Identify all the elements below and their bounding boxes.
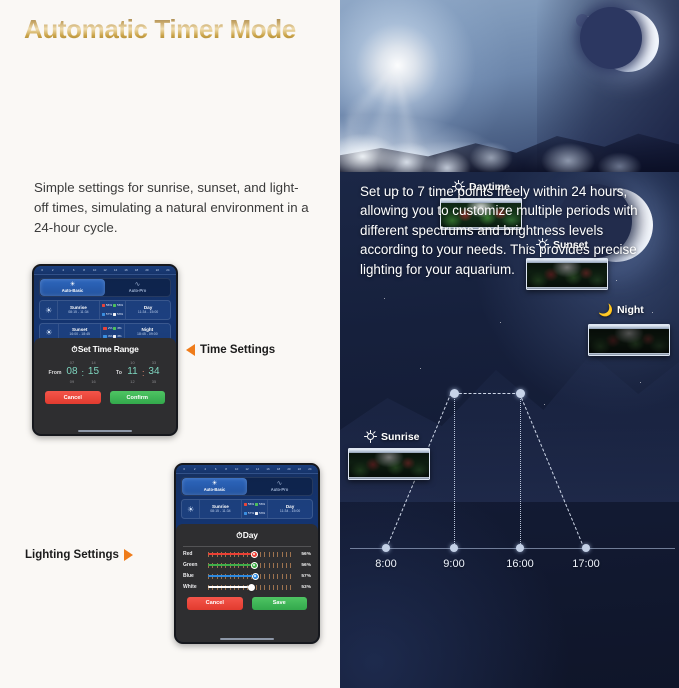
- chip-value: 56%: [117, 304, 123, 307]
- tab-auto-basic[interactable]: ☀ Auto-Basic: [182, 478, 247, 495]
- hour-tick: 24: [305, 468, 315, 471]
- wheel-selected: 34: [148, 366, 159, 379]
- chip-red: 56%: [102, 302, 113, 310]
- wheel-next: 12: [130, 379, 134, 385]
- to-hour-wheel[interactable]: 10 11 12: [125, 360, 140, 385]
- hour-tick: 12: [242, 468, 252, 471]
- page-root: Automatic Timer Mode Simple settings for…: [0, 0, 679, 688]
- home-indicator: [220, 638, 274, 640]
- crescent-moon-icon: [597, 10, 659, 72]
- hour-ruler-2[interactable]: 0 2 4 6 8 10 12 14 16 18 20 22 24: [176, 465, 318, 474]
- axis-label: 9:00: [443, 558, 464, 570]
- chip-white: 53%: [113, 310, 124, 318]
- clock-icon: ⏱: [71, 345, 77, 354]
- hour-ruler-1[interactable]: 0 2 4 6 8 10 12 14 16 18 20 22 24: [34, 266, 176, 275]
- hour-tick: 22: [294, 468, 304, 471]
- tab-auto-pro[interactable]: ∿ Auto-Pro: [247, 478, 312, 495]
- hour-tick: 20: [142, 269, 152, 272]
- dialog-title-text: Day: [243, 530, 258, 540]
- dialog-title-text: Set Time Range: [78, 344, 139, 354]
- hour-tick: 18: [131, 269, 141, 272]
- chip-value: 57%: [248, 512, 254, 515]
- chip-green: 56%: [113, 302, 124, 310]
- slider-knob[interactable]: [251, 562, 258, 569]
- aquarium-thumbnail-sunrise[interactable]: [348, 448, 430, 480]
- hour-tick: 2: [189, 468, 199, 471]
- chip-value: 53%: [117, 313, 123, 316]
- chip-value: 56%: [259, 503, 265, 506]
- chip-white: 53%: [255, 509, 266, 517]
- feature-description: Set up to 7 time points freely within 24…: [360, 182, 658, 279]
- axis-label: 16:00: [506, 558, 534, 570]
- slider-knob[interactable]: [251, 551, 258, 558]
- hour-tick: 20: [284, 468, 294, 471]
- chip-value: 56%: [248, 503, 254, 506]
- save-button[interactable]: Save: [252, 597, 308, 610]
- hour-tick: 4: [58, 269, 68, 272]
- hour-tick: 6: [210, 468, 220, 471]
- home-indicator: [78, 430, 132, 432]
- hour-tick: 8: [221, 468, 231, 471]
- slider-label: Green: [183, 562, 204, 568]
- hour-tick: 24: [163, 269, 173, 272]
- slider-row-green[interactable]: Green 56%: [183, 562, 311, 569]
- from-minute-wheel[interactable]: 14 15 16: [86, 360, 101, 385]
- phase-label-text: Sunrise: [381, 431, 420, 443]
- tablet-mockup-time-settings: 0 2 4 6 8 10 12 14 16 18 20 22 24 ☀: [32, 264, 178, 436]
- sky-photo: [340, 0, 679, 172]
- node-16-00[interactable]: [516, 389, 525, 398]
- tab-auto-basic[interactable]: ☀ Auto-Basic: [40, 279, 105, 296]
- cloud-layer: [340, 106, 679, 172]
- chip-green: 3%: [113, 325, 122, 333]
- spectrum-chips[interactable]: 56% 56% 57% 53%: [241, 500, 269, 518]
- callout-label: Time Settings: [200, 344, 275, 356]
- from-label: From: [49, 370, 62, 376]
- cancel-button[interactable]: Cancel: [187, 597, 243, 610]
- slider-row-blue[interactable]: Blue 57%: [183, 573, 311, 580]
- chip-value: 2%: [108, 327, 112, 330]
- to-minute-wheel[interactable]: 33 34 35: [146, 360, 161, 385]
- chip-red: 2%: [103, 325, 112, 333]
- time-picker-to: To 10 11 12 : 33 34 35: [116, 360, 161, 385]
- axis-label: 17:00: [572, 558, 600, 570]
- phase-time: 11:34 - 15:00: [138, 311, 158, 315]
- spectrum-chips[interactable]: 56% 56% 57% 53%: [99, 301, 127, 319]
- slider-value: 53%: [295, 585, 311, 590]
- slider-row-white[interactable]: White 53%: [183, 584, 311, 591]
- hour-tick: 2: [47, 269, 57, 272]
- slider-label: White: [183, 584, 204, 590]
- phase-label-text: Night: [617, 304, 644, 316]
- schedule-row-list-2: ☀ Sunrise 08:15 - 11:34 56% 56% 57% 53%: [181, 499, 313, 519]
- tab-label: Auto-Basic: [204, 488, 226, 492]
- dialog-title: ⏱Day: [183, 530, 311, 541]
- chip-value: 56%: [106, 304, 112, 307]
- axis-tick-16-00[interactable]: [516, 544, 524, 552]
- wheel-selected: 11: [127, 366, 137, 379]
- chip-value: 57%: [106, 313, 112, 316]
- slider-track-red[interactable]: [208, 551, 291, 558]
- hour-tick: 4: [200, 468, 210, 471]
- set-time-range-dialog: ⏱Set Time Range From 07 08 09 :: [34, 338, 176, 434]
- wheel-selected: 15: [88, 366, 99, 379]
- triangle-left-icon: [186, 344, 195, 356]
- chip-red: 56%: [244, 501, 255, 509]
- phase-cell-sunrise[interactable]: Sunrise 08:15 - 11:34: [58, 301, 98, 319]
- moon-icon: 🌙: [598, 304, 613, 316]
- plateau-segment: [454, 393, 520, 394]
- wheel-selected: 08: [66, 366, 77, 379]
- axis-label: 8:00: [375, 558, 396, 570]
- axis-tick-9-00[interactable]: [450, 544, 458, 552]
- callout-time-settings: Time Settings: [186, 344, 275, 356]
- tab-label: Auto-Pro: [271, 488, 289, 492]
- hour-tick: 0: [37, 269, 47, 272]
- slider-fill: [208, 553, 254, 555]
- aquarium-thumbnail-night[interactable]: [588, 324, 670, 356]
- triangle-right-icon: [124, 549, 133, 561]
- wheel-next: 16: [91, 379, 95, 385]
- hour-tick: 16: [121, 269, 131, 272]
- phase-cell-day[interactable]: Day 11:34 - 15:00: [268, 500, 312, 518]
- schedule-row[interactable]: ☀ Sunrise 08:15 - 11:34 56% 56% 57% 53%: [39, 300, 171, 320]
- time-picker-area: From 07 08 09 : 14 15 16: [41, 360, 169, 385]
- dropline-16-00: [520, 396, 521, 546]
- dialog-title: ⏱Set Time Range: [41, 344, 169, 355]
- rgbw-slider-group: Red 56% Green: [183, 551, 311, 591]
- hour-tick: 10: [231, 468, 241, 471]
- mode-tab-group-1: ☀ Auto-Basic ∿ Auto-Pro: [39, 278, 171, 297]
- sunrise-icon: [364, 430, 377, 443]
- phase-cell-sunrise[interactable]: Sunrise 08:15 - 11:34: [200, 500, 240, 518]
- slider-value: 56%: [295, 552, 311, 557]
- cancel-button[interactable]: Cancel: [45, 391, 101, 404]
- phase-label-sunrise: Sunrise: [364, 430, 420, 443]
- chip-value: 3%: [117, 327, 121, 330]
- phase-time: 16:00 - 18:45: [69, 333, 90, 337]
- slider-label: Blue: [183, 573, 204, 579]
- tab-label: Auto-Pro: [129, 289, 147, 293]
- time-axis: [350, 548, 675, 549]
- hour-tick: 16: [263, 468, 273, 471]
- time-colon: :: [81, 368, 84, 378]
- chip-green: 56%: [255, 501, 266, 509]
- hour-tick: 10: [89, 269, 99, 272]
- chip-value: 53%: [259, 512, 265, 515]
- dialog-actions: Cancel Confirm: [41, 391, 169, 404]
- from-hour-wheel[interactable]: 07 08 09: [64, 360, 79, 385]
- slider-fill: [208, 564, 254, 566]
- dialog-actions: Cancel Save: [183, 597, 311, 610]
- phase-cell-day[interactable]: Day 11:34 - 15:00: [126, 301, 170, 319]
- wheel-next: 09: [70, 379, 74, 385]
- app-screen-time-settings: 0 2 4 6 8 10 12 14 16 18 20 22 24 ☀: [34, 266, 176, 434]
- slider-row-red[interactable]: Red 56%: [183, 551, 311, 558]
- slider-fill: [208, 586, 252, 588]
- slider-track-white[interactable]: [208, 584, 291, 591]
- confirm-button[interactable]: Confirm: [110, 391, 166, 404]
- node-9-00[interactable]: [450, 389, 459, 398]
- hour-tick: 0: [179, 468, 189, 471]
- lighting-settings-dialog: ⏱Day Red 56%: [176, 524, 318, 642]
- schedule-row[interactable]: ☀ Sunrise 08:15 - 11:34 56% 56% 57% 53%: [181, 499, 313, 519]
- app-screen-lighting-settings: 0 2 4 6 8 10 12 14 16 18 20 22 24 ☀: [176, 465, 318, 642]
- hour-tick: 18: [273, 468, 283, 471]
- mode-tab-group-2: ☀ Auto-Basic ∿ Auto-Pro: [181, 477, 313, 496]
- phase-time: 18:45 - 09:00: [137, 333, 158, 337]
- callout-lighting-settings: Lighting Settings: [25, 549, 133, 561]
- slider-label: Red: [183, 551, 204, 557]
- page-title: Automatic Timer Mode: [24, 14, 296, 45]
- hour-tick: 22: [152, 269, 162, 272]
- axis-tick-8-00[interactable]: [382, 544, 390, 552]
- wheel-next: 35: [152, 379, 156, 385]
- tablet-mockup-lighting-settings: 0 2 4 6 8 10 12 14 16 18 20 22 24 ☀: [174, 463, 320, 644]
- clock-icon: ⏱: [236, 531, 242, 540]
- phase-time: 08:15 - 11:34: [68, 311, 88, 315]
- time-picker-from: From 07 08 09 : 14 15 16: [49, 360, 101, 385]
- sunset-ramp: [519, 393, 584, 548]
- dropline-9-00: [454, 396, 455, 546]
- chip-blue: 57%: [102, 310, 113, 318]
- slider-track-green[interactable]: [208, 562, 291, 569]
- time-colon: :: [142, 368, 145, 378]
- to-label: To: [116, 370, 122, 376]
- divider: [183, 546, 311, 547]
- phase-time: 11:34 - 15:00: [280, 510, 300, 514]
- chip-blue: 57%: [244, 509, 255, 517]
- hour-tick: 12: [100, 269, 110, 272]
- sunrise-icon: ☀: [182, 500, 200, 518]
- slider-value: 56%: [295, 563, 311, 568]
- hour-tick: 6: [68, 269, 78, 272]
- sunrise-icon: ☀: [40, 301, 58, 319]
- phase-label-night: 🌙 Night: [598, 304, 644, 316]
- slider-value: 57%: [295, 574, 311, 579]
- tab-auto-pro[interactable]: ∿ Auto-Pro: [105, 279, 170, 296]
- tab-label: Auto-Basic: [62, 289, 84, 293]
- axis-tick-17-00[interactable]: [582, 544, 590, 552]
- right-panel: 8:00 9:00 16:00 17:00 Sunrise: [340, 0, 679, 688]
- slider-knob[interactable]: [252, 573, 259, 580]
- slider-fill: [208, 575, 255, 577]
- hour-tick: 8: [79, 269, 89, 272]
- left-panel: Automatic Timer Mode Simple settings for…: [0, 0, 340, 688]
- callout-label: Lighting Settings: [25, 549, 119, 561]
- intro-paragraph: Simple settings for sunrise, sunset, and…: [34, 178, 312, 239]
- phase-time: 08:15 - 11:34: [210, 510, 230, 514]
- slider-track-blue[interactable]: [208, 573, 291, 580]
- schedule-row-list-1: ☀ Sunrise 08:15 - 11:34 56% 56% 57% 53%: [39, 300, 171, 343]
- hour-tick: 14: [110, 269, 120, 272]
- hour-tick: 14: [252, 468, 262, 471]
